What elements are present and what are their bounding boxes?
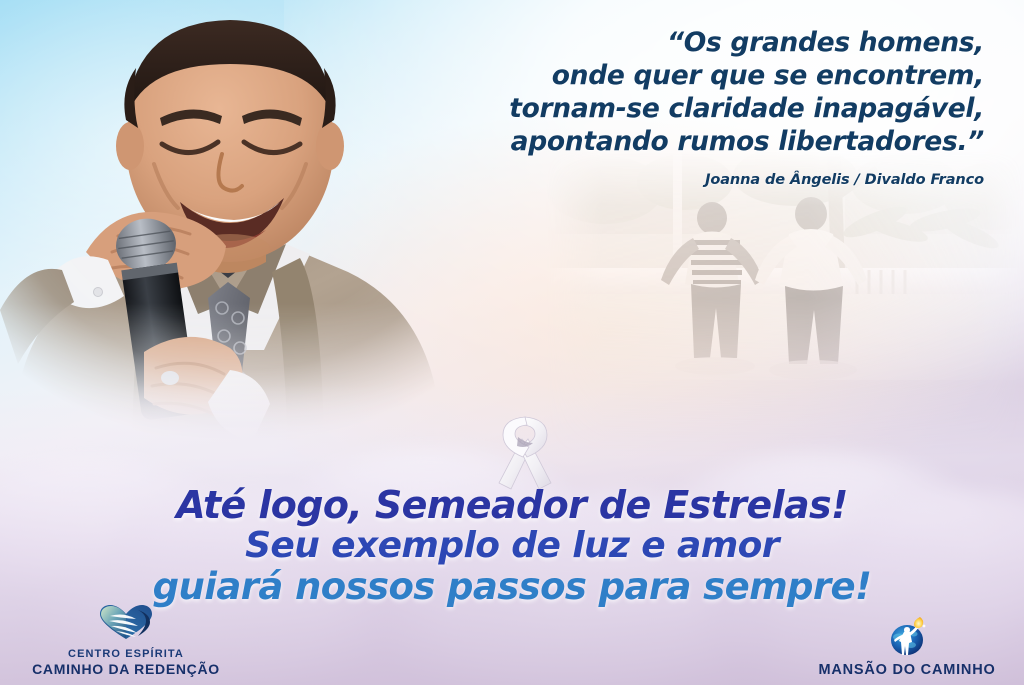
headline-block: Até logo, Semeador de Estrelas! Seu exem… [0,484,1024,607]
logo-right-line-2: MANSÃO DO CAMINHO [818,662,995,678]
logo-left-text: CENTRO ESPÍRITA CAMINHO DA REDENÇÃO [32,645,220,679]
logo-left-line-2: CAMINHO DA REDENÇÃO [32,661,220,677]
headline-line-3: guiará nossos passos para sempre! [0,566,1024,607]
logo-mansao-do-caminho: MANSÃO DO CAMINHO [804,615,1010,679]
logo-centro-espirita-caminho-da-redencao: CENTRO ESPÍRITA CAMINHO DA REDENÇÃO [26,604,226,679]
logo-right-text: MANSÃO DO CAMINHO [818,662,995,679]
quote-line-2: onde quer que se encontrem, [344,59,984,92]
quote-block: “Os grandes homens, onde quer que se enc… [344,26,984,188]
quote-attribution: Joanna de Ângelis / Divaldo Franco [344,172,984,188]
quote-line-1: “Os grandes homens, [344,26,984,59]
globe-with-figure-torch-icon [884,615,930,662]
background-photo-scene [545,150,1024,460]
heart-with-hands-icon [98,604,154,645]
white-awareness-ribbon-icon [489,409,561,491]
logo-left-line-1: CENTRO ESPÍRITA [68,648,184,660]
quote-line-4: apontando rumos libertadores.” [344,125,984,158]
tribute-banner: “Os grandes homens, onde quer que se enc… [0,0,1024,685]
headline-line-1: Até logo, Semeador de Estrelas! [0,484,1024,526]
quote-line-3: tornam-se claridade inapagável, [344,92,984,125]
headline-line-2: Seu exemplo de luz e amor [0,526,1024,566]
